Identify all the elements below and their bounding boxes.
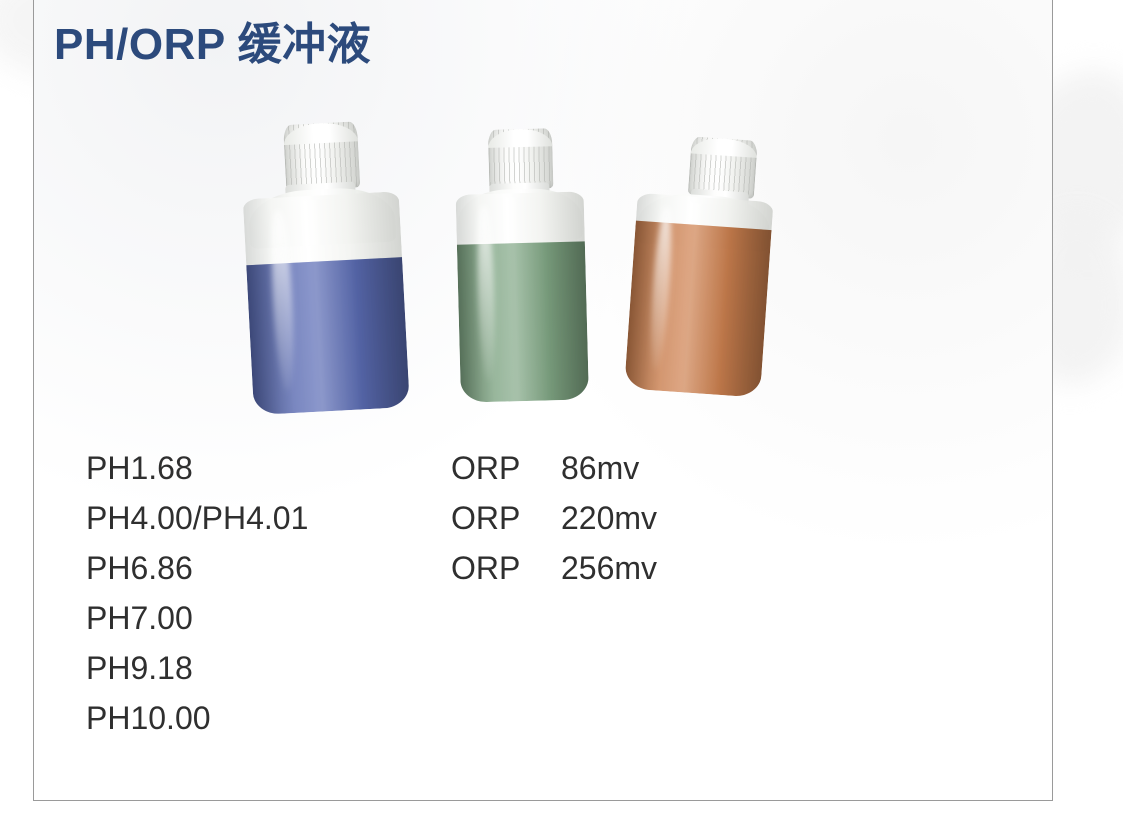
orp-label: ORP (451, 543, 561, 593)
liquid-green (457, 241, 589, 402)
bottle-body-green (456, 191, 589, 402)
liquid-orange (624, 221, 771, 398)
spec-row: PH9.18 (86, 643, 1026, 693)
ph-value: PH7.00 (86, 593, 451, 643)
orp-value: 256mv (561, 543, 701, 593)
orp-label: ORP (451, 443, 561, 493)
green-buffer-bottle (452, 127, 591, 402)
orp-label: ORP (451, 493, 561, 543)
cap-top-green (488, 128, 552, 148)
spec-row: PH6.86 ORP 256mv (86, 543, 1026, 593)
spec-row: PH10.00 (86, 693, 1026, 743)
specifications-list: PH1.68 ORP 86mv PH4.00/PH4.01 ORP 220mv … (86, 443, 1026, 743)
bottle-cap-blue (283, 121, 360, 191)
blue-buffer-bottle (237, 119, 412, 415)
page-background: PH/ORP 缓冲液 (0, 0, 1123, 827)
spec-row: PH4.00/PH4.01 ORP 220mv (86, 493, 1026, 543)
liquid-blue (246, 257, 410, 415)
orp-entry: ORP 86mv (451, 443, 701, 493)
bottle-cap-green (488, 128, 554, 190)
bottle-body-blue (243, 191, 410, 415)
cap-top-orange (691, 136, 758, 158)
product-photo (34, 0, 1053, 415)
spec-row: PH7.00 (86, 593, 1026, 643)
ph-value: PH4.00/PH4.01 (86, 493, 451, 543)
orp-value: 220mv (561, 493, 701, 543)
orp-entry: ORP 256mv (451, 543, 701, 593)
orp-entry: ORP 220mv (451, 493, 701, 543)
cap-top-blue (283, 121, 358, 145)
ph-value: PH10.00 (86, 693, 451, 743)
product-info-card: PH/ORP 缓冲液 (33, 0, 1053, 801)
ph-value: PH1.68 (86, 443, 451, 493)
orp-value: 86mv (561, 443, 701, 493)
ph-value: PH9.18 (86, 643, 451, 693)
spec-row: PH1.68 ORP 86mv (86, 443, 1026, 493)
orange-buffer-bottle (622, 133, 780, 398)
ph-value: PH6.86 (86, 543, 451, 593)
bottle-body-orange (624, 193, 773, 398)
